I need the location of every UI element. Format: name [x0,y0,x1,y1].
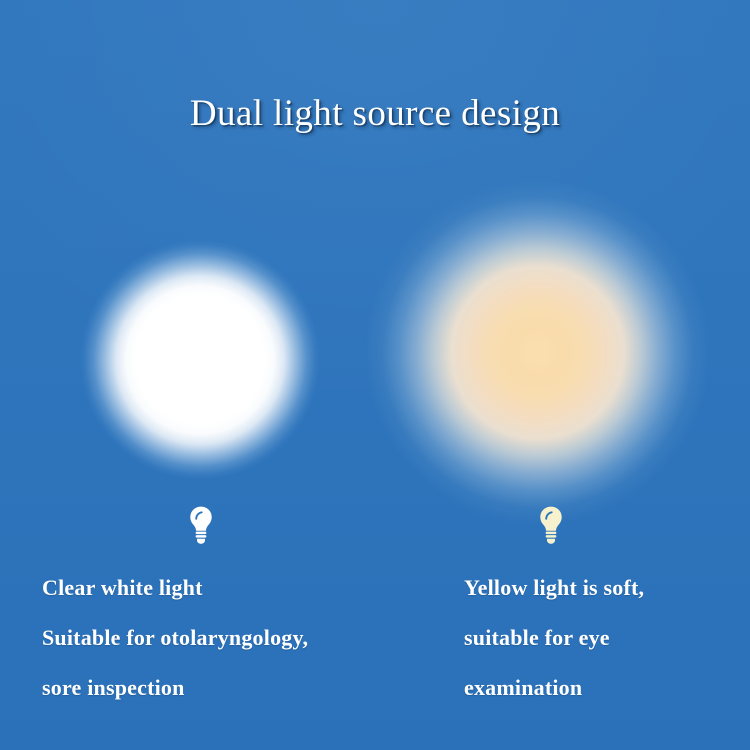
yellow-light-caption-line-3: examination [464,663,744,713]
yellow-light-caption-line-2: suitable for eye [464,613,744,663]
lightbulb-icon [188,505,214,545]
white-light-caption-line-3: sore inspection [42,663,402,713]
yellow-light-column: Yellow light is soft, suitable for eye e… [464,505,744,713]
page-title: Dual light source design [0,92,750,136]
white-light-caption-line-1: Clear white light [42,563,402,613]
yellow-light-icon-row [464,505,744,563]
dual-light-source-poster: Dual light source design Clear white lig… [0,0,750,750]
white-light-icon-row [42,505,402,563]
white-light-glow [80,240,320,480]
white-light-caption-line-2: Suitable for otolaryngology, [42,613,402,663]
lightbulb-icon [538,505,564,545]
yellow-light-caption-line-1: Yellow light is soft, [464,563,744,613]
white-light-column: Clear white light Suitable for otolaryng… [42,505,402,713]
yellow-light-glow [365,180,710,525]
